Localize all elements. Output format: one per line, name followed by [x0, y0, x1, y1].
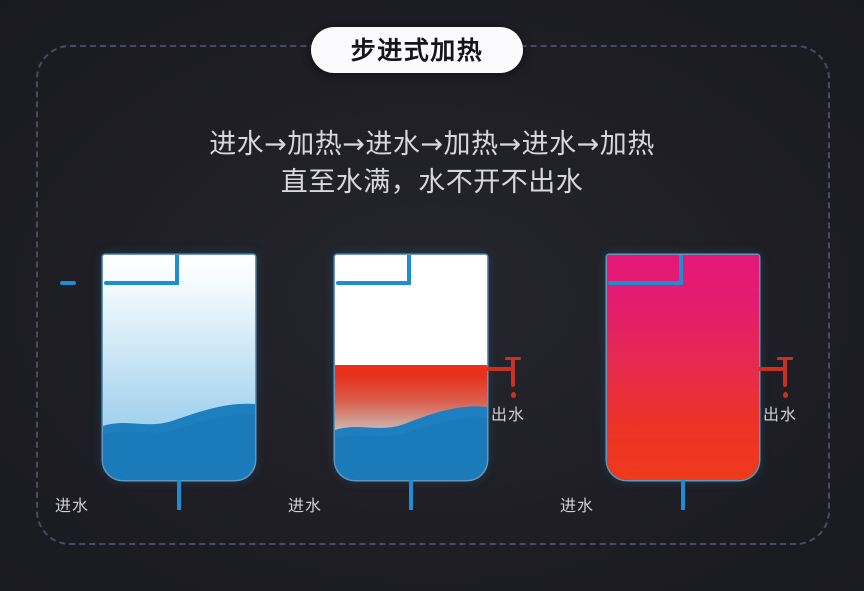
faucet-stem-icon [783, 361, 787, 381]
inlet-pipe-stub-3 [681, 480, 685, 510]
inlet-pipe-elbow-1 [60, 281, 76, 285]
water-wave-2 [335, 394, 487, 480]
inlet-pipe-horizontal-1 [104, 281, 179, 285]
inlet-label-2: 进水 [288, 492, 322, 516]
faucet-stem-icon [511, 361, 515, 381]
inlet-pipe-vertical-3 [679, 255, 683, 285]
faucet-drip-icon [511, 392, 516, 398]
tank-body-3 [607, 255, 759, 480]
title-badge: 步进式加热 [311, 27, 523, 73]
inlet-pipe-stub-1 [177, 480, 181, 510]
water-wave-1 [103, 394, 255, 480]
tank-stage-2 [335, 255, 487, 480]
tank-stage-3 [607, 255, 759, 480]
inlet-pipe-vertical-2 [407, 255, 411, 285]
faucet-spout-icon [511, 379, 515, 387]
inlet-pipe-horizontal-2 [336, 281, 411, 285]
inlet-pipe-vertical-1 [175, 255, 179, 285]
tank-fill-boiling [607, 255, 759, 480]
tank-body-2 [335, 255, 487, 480]
inlet-label-1: 进水 [55, 492, 89, 516]
faucet-drip-icon [783, 392, 788, 398]
description-line-1: 进水→加热→进水→加热→进水→加热 [0, 126, 864, 164]
infographic-canvas: 步进式加热 进水→加热→进水→加热→进水→加热 直至水满，水不开不出水 进水 [0, 0, 864, 591]
tank-stage-1 [103, 255, 255, 480]
inlet-label-3: 进水 [560, 492, 594, 516]
inlet-pipe-stub-2 [409, 480, 413, 510]
outlet-label-2: 出水 [491, 401, 525, 425]
tank-fill-empty [335, 255, 487, 365]
title-badge-label: 步进式加热 [351, 38, 484, 63]
description-line-2: 直至水满，水不开不出水 [0, 164, 864, 202]
inlet-pipe-horizontal-3 [608, 281, 683, 285]
tank-body-1 [103, 255, 255, 480]
description-block: 进水→加热→进水→加热→进水→加热 直至水满，水不开不出水 [0, 126, 864, 202]
outlet-label-3: 出水 [763, 401, 797, 425]
faucet-spout-icon [783, 379, 787, 387]
